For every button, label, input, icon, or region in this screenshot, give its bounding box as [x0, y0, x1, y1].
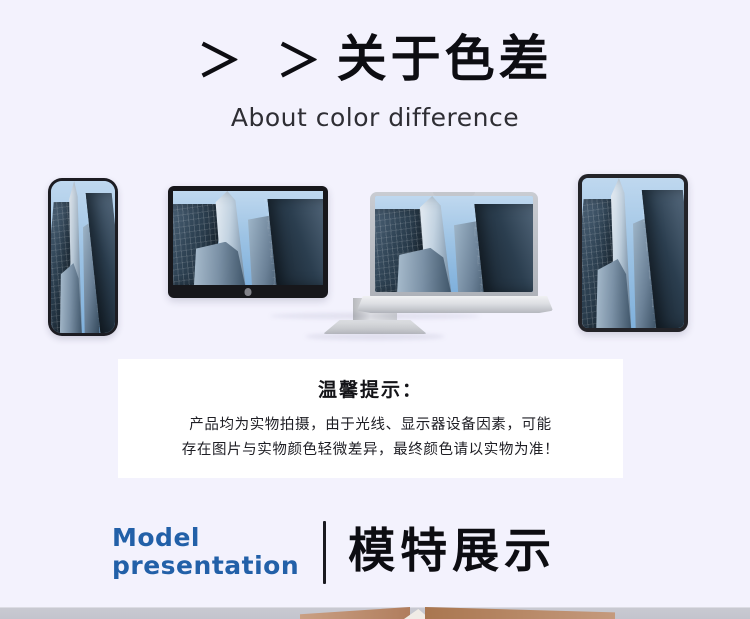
device-laptop	[370, 192, 538, 297]
photo-strip-top-edge	[0, 607, 750, 608]
skyscraper-mid	[633, 217, 660, 328]
model-presentation-en-line1: Model	[112, 523, 200, 552]
laptop-shadow	[270, 313, 480, 319]
section-header: ＞ ＞关于色差 About color difference	[0, 30, 750, 133]
building-facade-grid-right	[471, 204, 533, 292]
model-photo-strip	[0, 607, 750, 619]
notice-title: 温馨提示：	[318, 375, 423, 402]
notice-text-line-2: 存在图片与实物颜色轻微差异，最终颜色请以实物为准！	[182, 438, 560, 463]
color-difference-notice: 温馨提示： 产品均为实物拍摄，由于光线、显示器设备因素，可能 存在图片与实物颜色…	[118, 359, 623, 478]
model-presentation-en: Model presentation	[112, 524, 299, 580]
building-facade-grid-right	[264, 199, 323, 285]
laptop-keyboard-base	[357, 296, 553, 313]
page-subtitle: About color difference	[0, 103, 750, 133]
tablet-screen	[582, 178, 684, 328]
monitor-screen	[173, 191, 323, 285]
device-tablet	[578, 174, 688, 332]
city-wallpaper-image	[582, 178, 684, 328]
model-presentation-en-line2: presentation	[112, 552, 299, 580]
product-detail-page: ＞ ＞关于色差 About color difference	[0, 0, 750, 619]
device-smartphone	[48, 178, 118, 336]
city-wallpaper-image	[173, 191, 323, 285]
notice-text-line-1: 产品均为实物拍摄，由于光线、显示器设备因素，可能	[189, 413, 551, 438]
city-wallpaper-image	[51, 181, 115, 333]
heading-divider	[323, 521, 326, 584]
device-monitor	[168, 186, 328, 298]
city-wallpaper-image	[375, 196, 533, 292]
model-presentation-heading: Model presentation 模特展示	[112, 512, 672, 592]
apple-logo-icon	[245, 288, 252, 296]
monitor-shadow	[305, 333, 445, 340]
smartphone-screen	[51, 181, 115, 333]
model-arm-left	[300, 607, 410, 619]
page-title-cn: 关于色差	[337, 30, 553, 88]
device-showcase	[0, 170, 750, 345]
page-title: ＞ ＞关于色差	[0, 30, 750, 91]
chevron-right-icon: ＞ ＞	[197, 36, 330, 87]
model-presentation-cn: 模特展示	[348, 526, 556, 578]
laptop-screen	[375, 196, 533, 292]
monitor-stand-base	[323, 320, 427, 334]
model-arm-right	[425, 607, 615, 619]
